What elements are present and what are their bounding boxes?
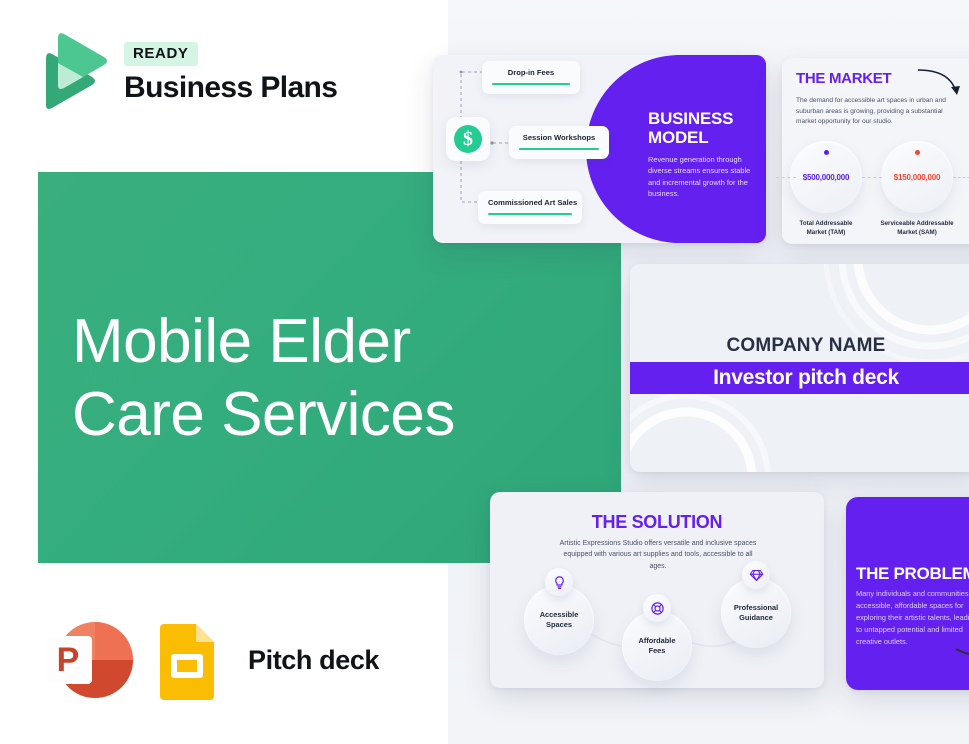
svg-text:P: P [57, 641, 80, 679]
revenue-card[interactable]: Commissioned Art Sales [478, 191, 582, 224]
format-label: Pitch deck [248, 645, 379, 676]
powerpoint-icon: P [42, 617, 134, 703]
problem-title: THE PROBLEM [856, 564, 969, 584]
business-model-body: Revenue generation through diverse strea… [648, 154, 764, 200]
brand-name: Business Plans [124, 71, 337, 105]
solution-body: Artistic Expressions Studio offers versa… [555, 538, 761, 572]
dollar-coin-icon: $ [454, 125, 482, 153]
market-metric-caption: Serviceable Addressable Market (SAM) [869, 220, 965, 238]
market-metric-caption-line2: Market (SAM) [869, 229, 965, 238]
market-body: The demand for accessible art spaces in … [796, 96, 949, 128]
dollar-coin-container: $ [446, 117, 490, 161]
market-metric-dot [824, 150, 829, 155]
solution-pillar-label-line2: Guidance [734, 613, 778, 623]
brand-text-block: READY Business Plans [124, 40, 337, 105]
revenue-card-bar [519, 148, 599, 150]
business-model-title-line1: BUSINESS [648, 109, 758, 128]
market-metric-caption-line1: Total Addressable [782, 220, 870, 229]
page-title-line2: Care Services [72, 378, 542, 451]
curved-arrow-icon [916, 64, 966, 100]
solution-pillar-label-line2: Spaces [540, 620, 579, 630]
business-model-title-line2: MODEL [648, 128, 758, 147]
revenue-card-bar [492, 83, 570, 85]
solution-pillar-label-line2: Fees [639, 646, 676, 656]
market-metric-caption: Total Addressable Market (TAM) [782, 220, 870, 238]
market-connector [862, 177, 882, 178]
market-connector [953, 177, 969, 178]
ready-badge: READY [124, 42, 198, 66]
problem-body: Many individuals and communities lack ac… [856, 588, 969, 648]
lightbulb-icon [545, 568, 573, 596]
company-name: COMPANY NAME [630, 335, 969, 357]
revenue-card-label: Commissioned Art Sales [488, 198, 572, 207]
revenue-card[interactable]: Session Workshops [509, 126, 609, 159]
market-metric-value: $500,000,000 [790, 173, 862, 182]
investor-pitch-subtitle: Investor pitch deck [630, 366, 969, 390]
market-metric-dot [915, 150, 920, 155]
solution-pillar-label-line1: Accessible [540, 610, 579, 620]
solution-pillar-label: Affordable Fees [639, 636, 676, 657]
brand-logo[interactable]: READY Business Plans [40, 33, 337, 111]
page-title: Mobile Elder Care Services [72, 305, 542, 451]
market-metric-value: $150,000,000 [881, 173, 953, 182]
market-title: THE MARKET [796, 70, 891, 87]
business-model-title: BUSINESS MODEL [648, 109, 758, 147]
solution-pillar-label: Accessible Spaces [540, 610, 579, 631]
diamond-icon [742, 561, 770, 589]
market-metric-caption-line1: Serviceable Addressable [869, 220, 965, 229]
lifebuoy-icon [643, 594, 671, 622]
revenue-card[interactable]: Drop-in Fees [482, 61, 580, 94]
market-metric-caption-line2: Market (TAM) [782, 229, 870, 238]
solution-title: THE SOLUTION [490, 512, 824, 533]
solution-pillar-label: Professional Guidance [734, 603, 778, 624]
play-triangle-logo-icon [40, 33, 108, 111]
solution-pillar-label-line1: Professional [734, 603, 778, 613]
revenue-card-label: Session Workshops [519, 133, 599, 142]
google-slides-icon [156, 620, 218, 700]
solution-pillar-label-line1: Affordable [639, 636, 676, 646]
page-title-line1: Mobile Elder [72, 305, 542, 378]
revenue-card-label: Drop-in Fees [492, 68, 570, 77]
poster-stage: READY Business Plans Mobile Elder Care S… [0, 0, 969, 744]
format-badges: P Pitch deck [42, 617, 379, 703]
revenue-card-bar [488, 213, 572, 215]
